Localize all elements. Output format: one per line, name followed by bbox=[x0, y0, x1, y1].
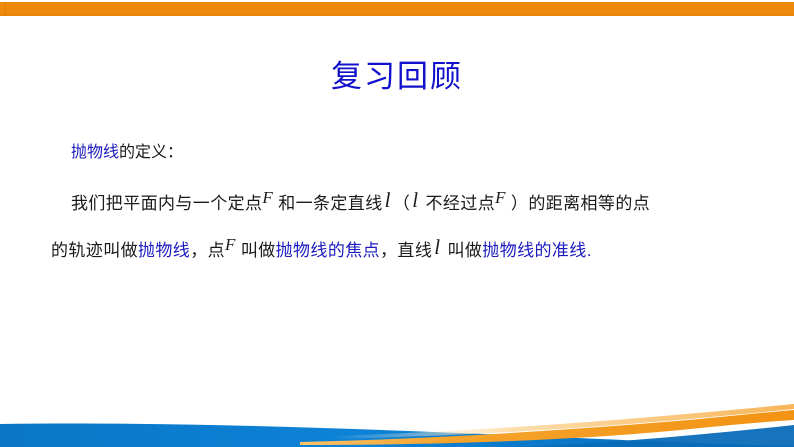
line3-seg1: 的轨迹叫做 bbox=[51, 241, 138, 260]
term-focus: 抛物线的焦点 bbox=[276, 241, 380, 260]
definition-text-line-2: 的轨迹叫做抛物线，点F叫做抛物线的焦点，直线l叫做抛物线的准线. bbox=[51, 234, 592, 262]
top-band-shade bbox=[0, 14, 794, 16]
definition-heading-line: 抛物线的定义： bbox=[71, 142, 183, 164]
math-var-l-2: l bbox=[410, 188, 420, 212]
line2-seg3: （ bbox=[393, 194, 410, 213]
math-var-F-1: F bbox=[262, 188, 273, 207]
slide-canvas: 复习回顾 抛物线的定义： 我们把平面内与一个定点F和一条定直线l（l不经过点F）… bbox=[0, 0, 794, 447]
line2-seg2: 和一条定直线 bbox=[278, 194, 382, 213]
line3-period: . bbox=[587, 241, 592, 260]
line3-seg3: 叫做 bbox=[241, 241, 276, 260]
math-var-l-3: l bbox=[432, 235, 442, 259]
top-band-hairline bbox=[0, 0, 794, 2]
line3-seg4: ，直线 bbox=[380, 241, 432, 260]
bottom-wave-decoration bbox=[0, 387, 794, 447]
line2-seg1: 我们把平面内与一个定点 bbox=[71, 194, 262, 213]
line2-seg4: 不经过点 bbox=[426, 194, 496, 213]
line2-seg5: ）的距离相等的点 bbox=[511, 194, 650, 213]
heading-suffix: 的定义： bbox=[119, 144, 183, 161]
term-directrix: 抛物线的准线 bbox=[482, 241, 586, 260]
definition-text-line-1: 我们把平面内与一个定点F和一条定直线l（l不经过点F）的距离相等的点 bbox=[71, 187, 650, 215]
math-var-F-3: F bbox=[225, 235, 236, 254]
term-parabola: 抛物线 bbox=[138, 241, 190, 260]
math-var-F-2: F bbox=[495, 188, 506, 207]
math-var-l-1: l bbox=[383, 188, 393, 212]
term-parabola-heading: 抛物线 bbox=[71, 144, 119, 161]
line3-seg2: ，点 bbox=[190, 241, 225, 260]
page-title: 复习回顾 bbox=[0, 58, 794, 96]
orange-top-band bbox=[0, 0, 794, 16]
line3-seg5: 叫做 bbox=[447, 241, 482, 260]
